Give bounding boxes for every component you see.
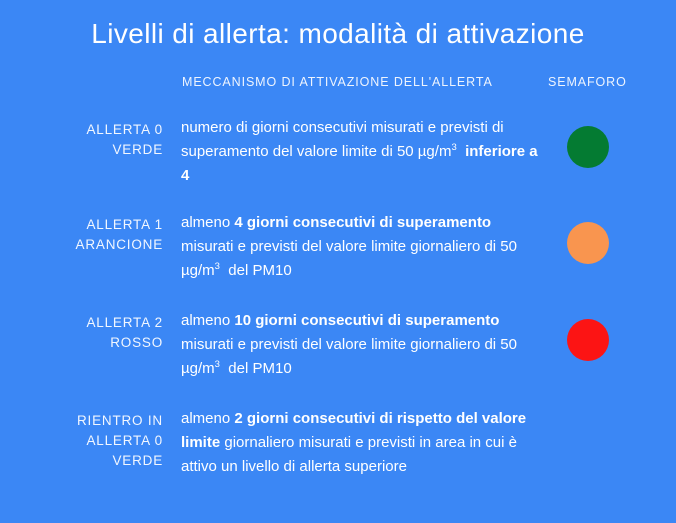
traffic-light-red-icon <box>567 319 609 361</box>
row-label-alert-level: ALLERTA 0 VERDE <box>20 120 163 160</box>
row-description: almeno 4 giorni consecutivi di superamen… <box>181 211 541 283</box>
row-description: almeno 2 giorni consecutivi di rispetto … <box>181 407 541 479</box>
row-label-alert-level: ALLERTA 1 ARANCIONE <box>20 215 163 255</box>
row-label-alert-level: ALLERTA 2 ROSSO <box>20 313 163 353</box>
column-header-mechanism: MECCANISMO DI ATTIVAZIONE DELL'ALLERTA <box>182 75 493 89</box>
alert-levels-slide: Livelli di allerta: modalità di attivazi… <box>0 0 676 523</box>
traffic-light-orange-icon <box>567 222 609 264</box>
row-description: numero di giorni consecutivi misurati e … <box>181 116 541 188</box>
column-header-semaphore: SEMAFORO <box>548 75 627 89</box>
traffic-light-green-icon <box>567 126 609 168</box>
row-label-alert-level: RIENTRO IN ALLERTA 0 VERDE <box>20 411 163 471</box>
page-title: Livelli di allerta: modalità di attivazi… <box>0 18 676 50</box>
row-description: almeno 10 giorni consecutivi di superame… <box>181 309 541 381</box>
